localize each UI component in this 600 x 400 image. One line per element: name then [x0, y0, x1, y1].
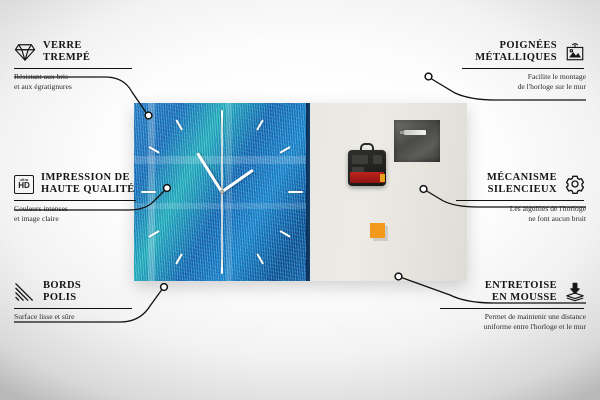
clock-back-panel: [310, 103, 467, 281]
callout-sub-line2: uniforme entre l'horloge et le mur: [440, 322, 586, 332]
clock-front-face: [134, 103, 310, 281]
callout-rule: [462, 68, 584, 69]
foam-spacer: [370, 223, 385, 238]
callout-sub-line2: et image claire: [14, 214, 138, 224]
diamond-icon: [14, 42, 36, 62]
callout-title-line2: POLIS: [43, 292, 81, 304]
callout-entretoise-en-mousse[interactable]: ENTRETOISE EN MOUSSE Permet de maintenir…: [440, 280, 586, 332]
infographic-stage: VERRE TREMPÉ Résistant aux bris et aux é…: [0, 0, 600, 400]
callout-sub-line1: Permet de maintenir une distance: [440, 312, 586, 322]
callout-title-line1: POIGNÉES: [475, 40, 557, 52]
metal-hanger-icon: [394, 120, 440, 162]
callout-title-line2: SILENCIEUX: [487, 184, 557, 196]
diagonal-stripes-icon: [14, 282, 36, 302]
callout-sub-line1: Résistant aux bris: [14, 72, 134, 82]
callout-title-line1: VERRE: [43, 40, 90, 52]
callout-rule: [440, 308, 584, 309]
callout-rule: [456, 200, 584, 201]
callout-sub-line2: ne font aucun bruit: [456, 214, 586, 224]
callout-mecanisme-silencieux[interactable]: MÉCANISME SILENCIEUX Les aiguilles de l'…: [456, 172, 586, 224]
clock-mechanism: [348, 150, 386, 186]
ultra-hd-main-text: HD: [18, 182, 30, 190]
callout-bords-polis[interactable]: BORDS POLIS Surface lisse et sûre: [14, 280, 134, 322]
gear-icon: [564, 174, 586, 194]
clock-minute-hand: [196, 152, 223, 193]
picture-hanger-icon: [564, 42, 586, 62]
callout-title-line1: IMPRESSION DE: [41, 172, 135, 184]
callout-poignees-metalliques[interactable]: POIGNÉES MÉTALLIQUES Facilite le montage…: [462, 40, 586, 92]
callout-sub-line1: Surface lisse et sûre: [14, 312, 134, 322]
callout-title-line2: TREMPÉ: [43, 52, 90, 64]
callout-rule: [14, 200, 136, 201]
callout-verre-trempe[interactable]: VERRE TREMPÉ Résistant aux bris et aux é…: [14, 40, 134, 92]
callout-title-line1: MÉCANISME: [487, 172, 557, 184]
arrow-onto-pad-icon: [564, 282, 586, 302]
callout-impression-haute-qualite[interactable]: ultra HD IMPRESSION DE HAUTE QUALITÉ Cou…: [14, 172, 138, 224]
ultra-hd-icon: ultra HD: [14, 175, 34, 194]
callout-title-line2: HAUTE QUALITÉ: [41, 184, 135, 196]
callout-sub-line1: Les aiguilles de l'horloge: [456, 204, 586, 214]
callout-rule: [14, 308, 132, 309]
callout-title-line1: BORDS: [43, 280, 81, 292]
product-image: [134, 103, 467, 281]
callout-title-line2: EN MOUSSE: [485, 292, 557, 304]
callout-sub-line2: de l'horloge sur le mur: [462, 82, 586, 92]
callout-title-line2: MÉTALLIQUES: [475, 52, 557, 64]
callout-sub-line1: Facilite le montage: [462, 72, 586, 82]
callout-title-line1: ENTRETOISE: [485, 280, 557, 292]
callout-rule: [14, 68, 132, 69]
callout-sub-line2: et aux égratignures: [14, 82, 134, 92]
callout-sub-line1: Couleurs intenses: [14, 204, 138, 214]
battery: [350, 172, 384, 183]
